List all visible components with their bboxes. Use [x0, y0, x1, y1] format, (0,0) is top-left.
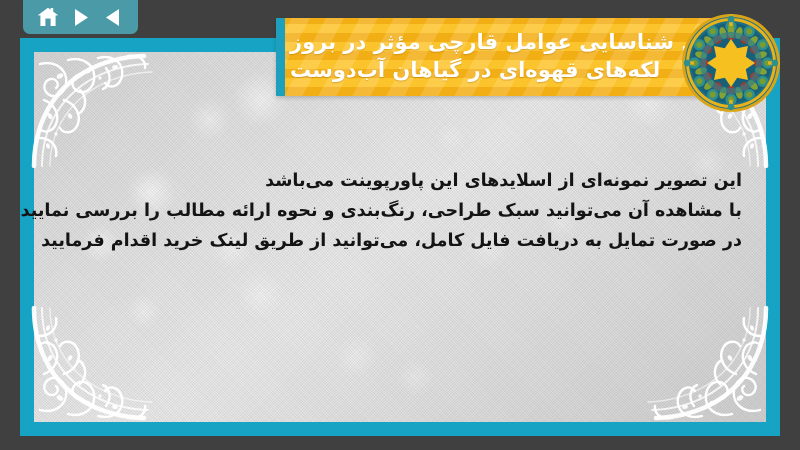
- slide-frame: این تصویر نمونه‌ای از اسلایدهای این پاور…: [20, 38, 780, 436]
- slide-navigation-bar: [23, 0, 138, 34]
- slide-title-line-1: کامل شناسایی عوامل قارچی مؤثر در بروز: [290, 29, 733, 57]
- home-button[interactable]: [35, 5, 61, 29]
- body-line-1: این تصویر نمونه‌ای از اسلایدهای این پاور…: [122, 166, 742, 196]
- slide-viewer: این تصویر نمونه‌ای از اسلایدهای این پاور…: [0, 0, 800, 450]
- next-slide-button[interactable]: [68, 5, 94, 29]
- body-line-3: در صورت تمایل به دریافت فایل کامل، می‌تو…: [122, 226, 742, 256]
- body-line-2: با مشاهده آن می‌توانید سبک طراحی، رنگ‌بن…: [122, 196, 742, 226]
- slide-title-banner: کامل شناسایی عوامل قارچی مؤثر در بروز لک…: [276, 18, 722, 96]
- slide-title-line-2: لکه‌های قهوه‌ای در گیاهان آب‌دوست: [290, 57, 660, 85]
- triangle-right-icon: [72, 8, 90, 27]
- previous-slide-button[interactable]: [100, 5, 126, 29]
- slide-body-text: این تصویر نمونه‌ای از اسلایدهای این پاور…: [122, 166, 742, 256]
- home-icon: [37, 7, 59, 27]
- triangle-left-icon: [104, 8, 122, 27]
